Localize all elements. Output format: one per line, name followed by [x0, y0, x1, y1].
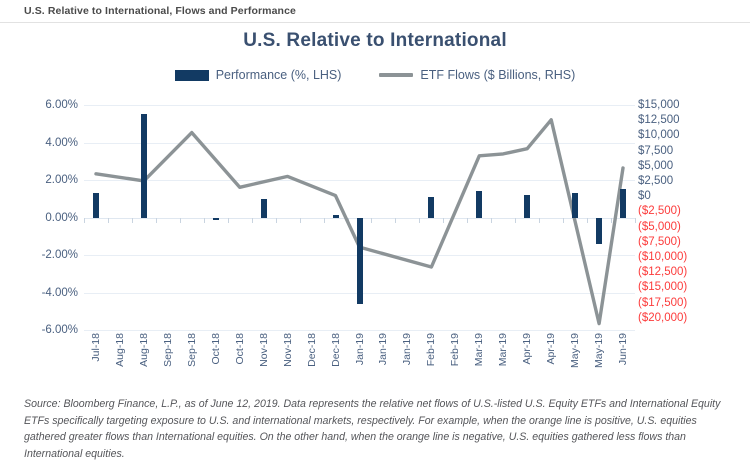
x-axis-label: Mar-19 [497, 333, 509, 366]
source-note: Source: Bloomberg Finance, L.P., as of J… [24, 396, 726, 462]
x-axis-label: Dec-18 [330, 333, 342, 367]
x-axis-label: Feb-19 [449, 333, 461, 366]
right-axis-tick-label: ($7,500) [638, 235, 748, 250]
left-axis-tick-label: 4.00% [45, 137, 78, 149]
performance-bar [428, 197, 434, 218]
right-axis-tick-label: ($17,500) [638, 296, 748, 311]
right-axis-tick-label: $7,500 [638, 144, 748, 159]
x-axis-label: Oct-18 [234, 333, 246, 365]
x-axis-label: Sep-18 [162, 333, 174, 367]
gridline [84, 330, 635, 331]
right-axis-tick-label: ($20,000) [638, 311, 748, 326]
performance-bar [620, 189, 626, 217]
x-axis-label: May-19 [593, 333, 605, 368]
x-axis-label: Nov-18 [282, 333, 294, 367]
x-axis-label: Dec-18 [306, 333, 318, 367]
chart-canvas: 6.00%4.00%2.00%0.00%-2.00%-4.00%-6.00% $… [0, 0, 750, 461]
right-y-axis: $15,000$12,500$10,000$7,500$5,000$2,500$… [638, 98, 748, 326]
x-axis-label: Jun-19 [617, 333, 629, 365]
performance-bar [357, 218, 363, 304]
x-axis: Jul-18Aug-18Aug-18Sep-18Sep-18Oct-18Oct-… [84, 333, 635, 385]
left-axis-tick-label: 6.00% [45, 99, 78, 111]
x-axis-label: Jan-19 [377, 333, 389, 365]
left-axis-tick-label: -4.00% [42, 287, 78, 299]
left-y-axis: 6.00%4.00%2.00%0.00%-2.00%-4.00%-6.00% [22, 105, 78, 330]
right-axis-tick-label: $2,500 [638, 174, 748, 189]
x-axis-label: Jan-19 [401, 333, 413, 365]
performance-bar [93, 193, 99, 217]
left-axis-tick-label: 0.00% [45, 212, 78, 224]
x-axis-label: Jan-19 [354, 333, 366, 365]
x-axis-label: Oct-18 [210, 333, 222, 365]
x-axis-label: Jul-18 [90, 333, 102, 362]
right-axis-tick-label: ($5,000) [638, 220, 748, 235]
right-axis-tick-label: ($10,000) [638, 250, 748, 265]
performance-bar [141, 114, 147, 217]
performance-bar [476, 191, 482, 217]
x-axis-tick [635, 218, 636, 223]
performance-bar [333, 215, 339, 218]
right-axis-tick-label: $0 [638, 189, 748, 204]
right-axis-tick-label: $12,500 [638, 113, 748, 128]
x-axis-label: Apr-19 [521, 333, 533, 365]
right-axis-tick-label: $15,000 [638, 98, 748, 113]
x-axis-label: Sep-18 [186, 333, 198, 367]
left-axis-tick-label: 2.00% [45, 174, 78, 186]
x-axis-label: Aug-18 [138, 333, 150, 367]
x-axis-label: Mar-19 [473, 333, 485, 366]
right-axis-tick-label: $10,000 [638, 128, 748, 143]
right-axis-tick-label: ($2,500) [638, 204, 748, 219]
x-axis-label: Nov-18 [258, 333, 270, 367]
x-axis-label: Feb-19 [425, 333, 437, 366]
left-axis-tick-label: -2.00% [42, 249, 78, 261]
performance-bar [524, 195, 530, 218]
right-axis-tick-label: ($12,500) [638, 265, 748, 280]
performance-bar [261, 199, 267, 218]
right-axis-tick-label: ($15,000) [638, 280, 748, 295]
plot-area [84, 105, 635, 330]
x-axis-label: May-19 [569, 333, 581, 368]
performance-bar [572, 193, 578, 217]
performance-bar [213, 218, 219, 221]
left-axis-tick-label: -6.00% [42, 324, 78, 336]
x-axis-label: Apr-19 [545, 333, 557, 365]
right-axis-tick-label: $5,000 [638, 159, 748, 174]
performance-bar [596, 218, 602, 244]
x-axis-label: Aug-18 [114, 333, 126, 367]
